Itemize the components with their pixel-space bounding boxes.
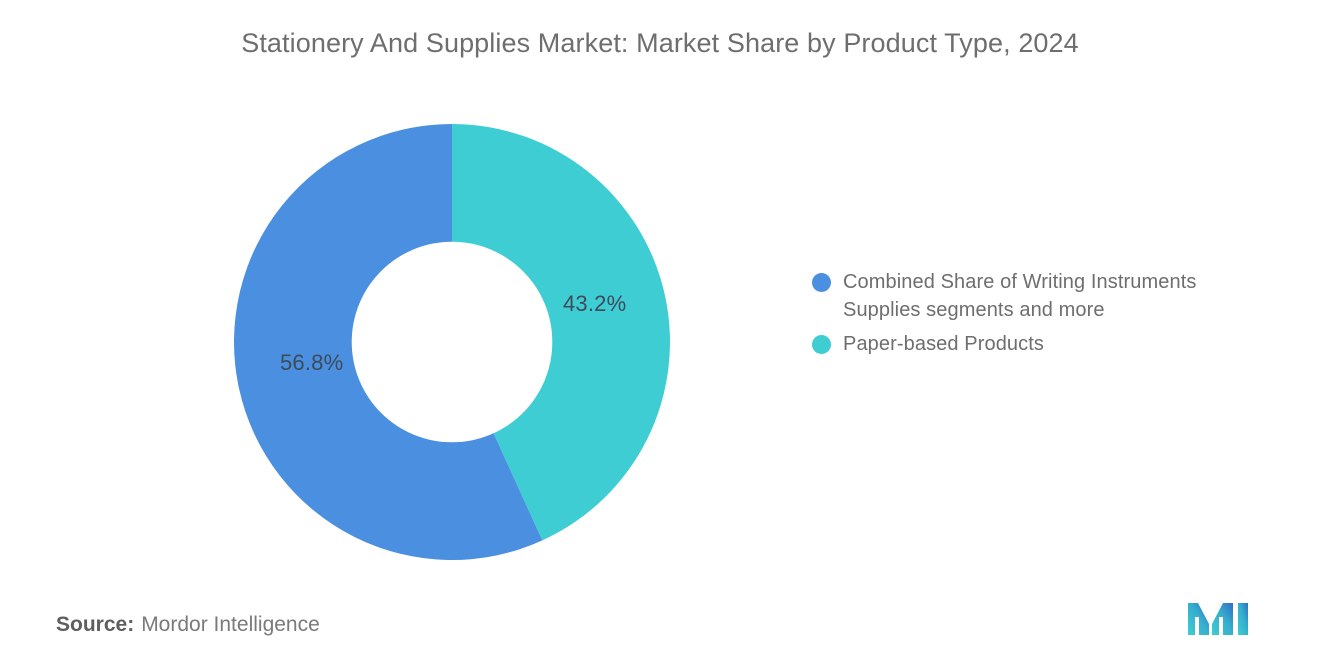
source-value-label: Mordor Intelligence: [141, 613, 320, 636]
donut-center-hole: [352, 242, 553, 443]
legend-label-paper-based-products: Paper-based Products: [843, 330, 1044, 358]
legend-item-combined-share[interactable]: Combined Share of Writing Instruments Su…: [812, 268, 1282, 324]
slice-data-label-combined-share: 56.8%: [280, 350, 343, 376]
donut-svg: [234, 124, 670, 560]
legend-item-paper-based-products[interactable]: Paper-based Products: [812, 330, 1282, 358]
legend-label-line-2: Supplies segments and more: [843, 299, 1105, 321]
source-prefix-label: Source:: [56, 613, 134, 636]
mordor-intelligence-logo-icon: [1186, 597, 1252, 635]
chart-title: Stationery And Supplies Market: Market S…: [0, 28, 1320, 59]
legend-label-line-1: Combined Share of Writing Instruments: [843, 271, 1197, 293]
source-attribution: Source:Mordor Intelligence: [56, 613, 320, 637]
slice-data-label-paper-based: 43.2%: [563, 291, 626, 317]
donut-chart-figure: Stationery And Supplies Market: Market S…: [0, 0, 1320, 665]
chart-legend: Combined Share of Writing Instruments Su…: [812, 268, 1282, 364]
legend-swatch-teal-icon: [812, 335, 831, 354]
legend-label-combined-share: Combined Share of Writing Instruments Su…: [843, 268, 1197, 324]
legend-swatch-blue-icon: [812, 273, 831, 292]
logo-svg: [1186, 597, 1252, 635]
donut-plot-area: [234, 124, 670, 560]
